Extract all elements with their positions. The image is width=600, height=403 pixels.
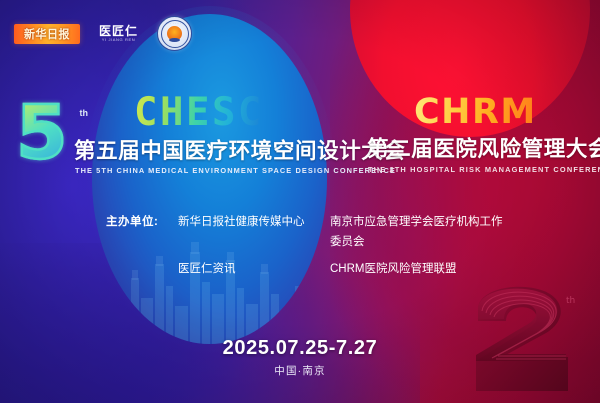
association-emblem-mark <box>167 26 182 41</box>
organizers-label: 主办单位: <box>106 212 178 232</box>
xinhua-daily-logo-text: 新华日报 <box>24 25 70 42</box>
association-emblem-arc-text: · · · · · · <box>158 21 191 25</box>
ordinal-numeral-five: 5 th <box>16 98 78 174</box>
organizer-item-2: 医匠仁资讯 <box>178 259 330 279</box>
event-date: 2025.07.25-7.27 <box>0 337 600 360</box>
organizer-item-4: CHRM医院风险管理联盟 <box>330 259 457 279</box>
yijiangren-logo-cn: 医匠仁 <box>99 25 138 37</box>
chrm-title-cn: 第二届医院风险管理大会 <box>367 136 600 162</box>
organizers-row-first: 主办单位: 新华日报社健康传媒中心 南京市应急管理学会医疗机构工作委员会 <box>106 212 506 252</box>
organizer-item-1: 新华日报社健康传媒中心 <box>178 212 330 232</box>
chesc-title-en: THE 5TH CHINA MEDICAL ENVIRONMENT SPACE … <box>75 166 396 175</box>
ordinal-numeral-five-digit: 5 <box>16 98 78 168</box>
xinhua-daily-logo[interactable]: 新华日报 <box>14 24 80 44</box>
yijiangren-logo-en: YI JIANG REN <box>102 38 135 42</box>
organizers-row-second: 医匠仁资讯 CHRM医院风险管理联盟 <box>106 259 506 279</box>
yijiangren-logo[interactable]: 医匠仁 YI JIANG REN <box>99 25 138 42</box>
chrm-title-en: THE 2TH HOSPITAL RISK MANAGEMENT CONFERE… <box>368 165 600 174</box>
chesc-title-cn: 第五届中国医疗环境空间设计大会 <box>74 138 406 164</box>
chrm-acronym: CHRM <box>414 92 537 132</box>
organizers-section: 主办单位: 新华日报社健康传媒中心 南京市应急管理学会医疗机构工作委员会 医匠仁… <box>106 212 506 279</box>
svg-text:th: th <box>566 296 575 306</box>
conference-block-chesc: 5 th CHESC 第五届中国医疗环境空间设计大会 THE 5TH CHINA… <box>14 92 359 188</box>
sponsor-logos: 新华日报 医匠仁 YI JIANG REN · · · · · · <box>14 16 192 51</box>
conference-block-chrm: CHRM 第二届医院风险管理大会 THE 2TH HOSPITAL RISK M… <box>362 92 594 188</box>
event-location: 中国·南京 <box>0 363 600 378</box>
ordinal-numeral-five-suffix: th <box>80 108 89 118</box>
organizer-item-3: 南京市应急管理学会医疗机构工作委员会 <box>330 212 506 252</box>
chesc-acronym: CHESC <box>134 92 264 134</box>
association-emblem-logo[interactable]: · · · · · · <box>157 16 192 51</box>
conference-poster: th 新华日报 医匠仁 YI JIANG REN · · · · · · 5 t… <box>0 0 600 403</box>
